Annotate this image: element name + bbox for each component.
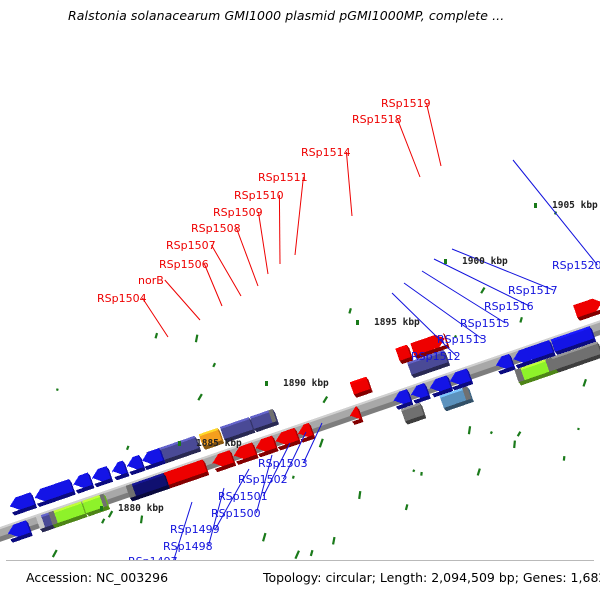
gene-label-rsp1518[interactable]: RSp1518 (352, 113, 402, 126)
status-bar: Accession: NC_003296 Topology: circular;… (0, 560, 600, 600)
gene-feature[interactable] (35, 479, 76, 507)
gene-label-rsp1502[interactable]: RSp1502 (238, 473, 288, 486)
gene-feature[interactable] (92, 466, 113, 487)
gene-label-rsp1519[interactable]: RSp1519 (381, 97, 431, 110)
gene-label-rsp1511[interactable]: RSp1511 (258, 171, 308, 184)
gene-feature[interactable] (127, 455, 145, 475)
coordinate-tick-label: 1885 kbp (196, 438, 242, 449)
gene-feature[interactable] (250, 409, 279, 432)
gene-feature[interactable] (573, 296, 600, 321)
gene-label-rsp1520[interactable]: RSp1520 (552, 259, 600, 272)
gene-label-rsp1507[interactable]: RSp1507 (166, 239, 216, 252)
coordinate-tick-label: 1895 kbp (374, 317, 420, 328)
page-title: Ralstonia solanacearum GMI1000 plasmid p… (68, 8, 504, 23)
gene-feature-layer[interactable] (8, 296, 600, 543)
gene-label-rsp1504[interactable]: RSp1504 (97, 292, 147, 305)
gene-label-rsp1515[interactable]: RSp1515 (460, 317, 510, 330)
gene-label-rsp1501[interactable]: RSp1501 (218, 490, 268, 503)
gene-label-rsp1514[interactable]: RSp1514 (301, 146, 351, 159)
gene-feature[interactable] (112, 461, 129, 481)
coordinate-tick-mark (265, 381, 268, 386)
coordinate-tick-label: 1890 kbp (283, 378, 329, 389)
coordinate-tick-mark (178, 441, 181, 446)
gene-label-rsp1506[interactable]: RSp1506 (159, 258, 209, 271)
gene-label-rsp1513[interactable]: RSp1513 (437, 333, 487, 346)
label-leader-lines (142, 103, 597, 560)
gene-label-rsp1499[interactable]: RSp1499 (170, 523, 220, 536)
gene-feature[interactable] (74, 473, 95, 494)
gene-label-norb[interactable]: norB (138, 274, 164, 287)
coordinate-tick-mark (356, 320, 359, 325)
gene-label-rsp1516[interactable]: RSp1516 (484, 300, 534, 313)
gene-label-rsp1512[interactable]: RSp1512 (411, 350, 461, 363)
coordinate-tick-label: 1880 kbp (118, 503, 164, 514)
gene-label-rsp1509[interactable]: RSp1509 (213, 206, 263, 219)
coordinate-tick-label: 1900 kbp (462, 256, 508, 267)
gene-feature[interactable] (10, 492, 37, 515)
gene-label-rsp1500[interactable]: RSp1500 (211, 507, 261, 520)
topology-label: Topology: circular; Length: 2,094,509 bp… (263, 570, 600, 585)
gene-label-rsp1503[interactable]: RSp1503 (258, 457, 308, 470)
gene-feature[interactable] (82, 494, 110, 517)
coordinate-tick-label: 1905 kbp (552, 200, 598, 211)
status-separator (6, 560, 594, 561)
gene-label-rsp1498[interactable]: RSp1498 (163, 540, 213, 553)
genome-map-canvas[interactable]: 1875 kbp1880 kbp1885 kbp1890 kbp1895 kbp… (0, 32, 600, 560)
gene-feature[interactable] (350, 377, 373, 398)
coordinate-tick-mark (100, 506, 103, 511)
coordinate-tick-mark (444, 259, 447, 264)
coordinate-tick-mark (534, 203, 537, 208)
gene-label-rsp1510[interactable]: RSp1510 (234, 189, 284, 202)
gene-label-rsp1508[interactable]: RSp1508 (191, 222, 241, 235)
genome-viewer: Ralstonia solanacearum GMI1000 plasmid p… (0, 0, 600, 600)
title-bar: Ralstonia solanacearum GMI1000 plasmid p… (0, 0, 600, 32)
gene-label-rsp1517[interactable]: RSp1517 (508, 284, 558, 297)
accession-label: Accession: NC_003296 (26, 570, 168, 585)
